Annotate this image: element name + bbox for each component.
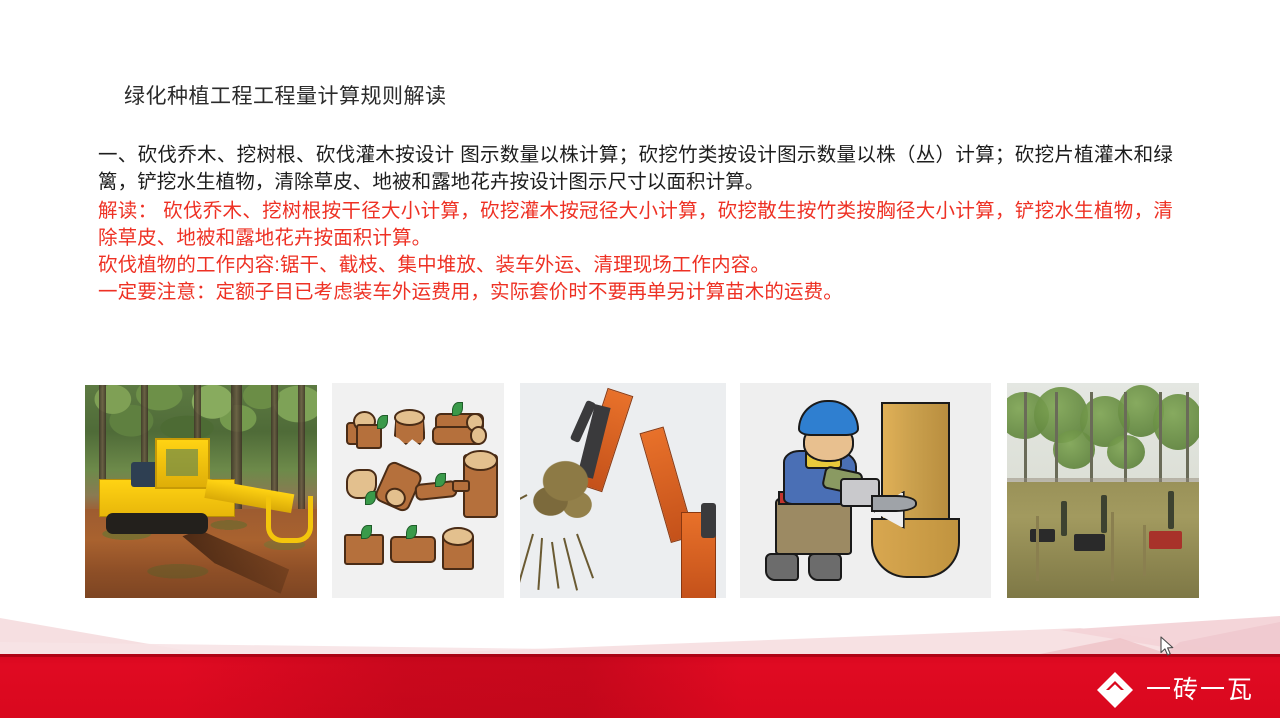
presentation-slide: 绿化种植工程工程量计算规则解读 一、砍伐乔木、挖树根、砍伐灌木按设计 图示数量以… <box>0 0 1280 718</box>
paragraph-work-content: 砍伐植物的工作内容:锯干、截枝、集中堆放、装车外运、清理现场工作内容。 <box>98 252 1173 279</box>
brand-name: 一砖一瓦 <box>1146 678 1254 703</box>
slide-body-text: 一、砍伐乔木、挖树根、砍伐灌木按设计 图示数量以株计算；砍挖竹类按设计图示数量以… <box>98 142 1173 306</box>
illustration-lumberjack-chainsaw <box>740 383 991 598</box>
photo-nursery-mowing <box>1007 383 1199 598</box>
bottom-banner: 一砖一瓦 <box>0 612 1280 718</box>
illustration-logs-and-stumps <box>332 383 504 598</box>
banner-red-bar <box>0 654 1280 718</box>
diamond-house-logo-icon <box>1095 670 1135 710</box>
page-title: 绿化种植工程工程量计算规则解读 <box>124 82 447 112</box>
photo-tree-digging-machine <box>85 385 317 598</box>
paragraph-interpretation: 解读： 砍伐乔木、挖树根按干径大小计算，砍挖灌木按冠径大小计算，砍挖散生按竹类按… <box>98 198 1173 252</box>
banner-wedge-decoration <box>0 612 1280 658</box>
image-strip <box>0 383 1280 615</box>
brand-logo-group[interactable]: 一砖一瓦 <box>1095 668 1254 712</box>
photo-excavator-root-ball <box>520 383 726 598</box>
paragraph-rule: 一、砍伐乔木、挖树根、砍伐灌木按设计 图示数量以株计算；砍挖竹类按设计图示数量以… <box>98 142 1173 196</box>
paragraph-attention: 一定要注意：定额子目已考虑装车外运费用，实际套价时不要再单另计算苗木的运费。 <box>98 279 1173 306</box>
